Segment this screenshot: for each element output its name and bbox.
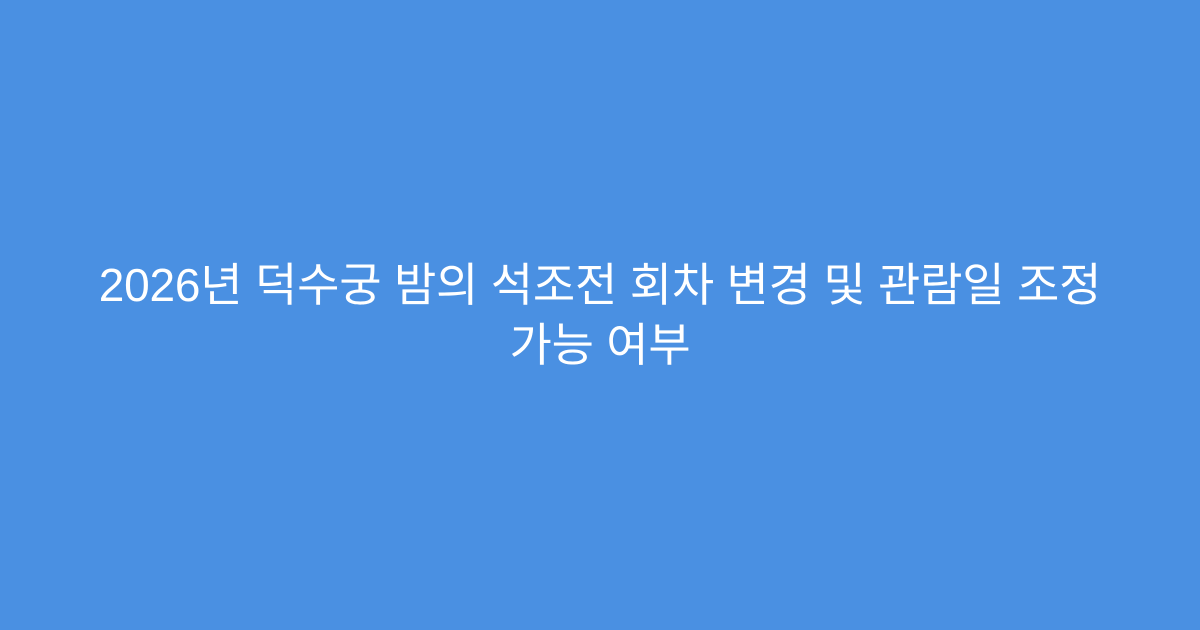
page-title: 2026년 덕수궁 밤의 석조전 회차 변경 및 관람일 조정 가능 여부 [80,255,1120,375]
title-block: 2026년 덕수궁 밤의 석조전 회차 변경 및 관람일 조정 가능 여부 [80,255,1120,375]
og-banner-card: 2026년 덕수궁 밤의 석조전 회차 변경 및 관람일 조정 가능 여부 [0,0,1200,630]
